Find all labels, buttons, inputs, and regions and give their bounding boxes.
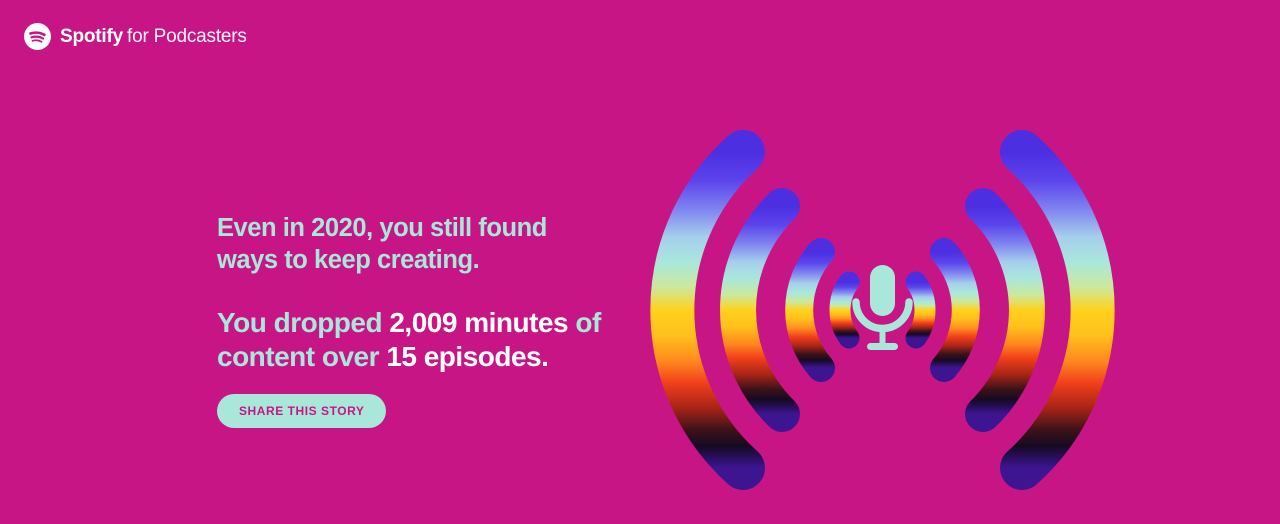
stat-prefix: You dropped bbox=[217, 307, 389, 338]
headline-line-2: ways to keep creating. bbox=[217, 246, 479, 274]
soundwave-arc-right-4 bbox=[916, 282, 925, 338]
story-copy: Even in 2020, you still found ways to ke… bbox=[217, 213, 637, 373]
soundwave-arc-right-2 bbox=[983, 206, 1027, 414]
brand-wordmark: Spotify for Podcasters bbox=[60, 27, 247, 46]
share-this-story-button[interactable]: SHARE THIS STORY bbox=[217, 394, 386, 428]
brand-name-for-podcasters: for Podcasters bbox=[127, 27, 247, 46]
stat-sentence: You dropped 2,009 minutes of content ove… bbox=[217, 306, 637, 373]
brand-name-spotify: Spotify bbox=[60, 27, 123, 46]
microphone-icon bbox=[856, 265, 909, 350]
soundwave-arc-left-4 bbox=[840, 282, 849, 338]
brand-lockup[interactable]: Spotify for Podcasters bbox=[24, 21, 247, 51]
spotify-icon bbox=[24, 23, 51, 50]
headline-line-1: Even in 2020, you still found bbox=[217, 214, 547, 242]
stat-minutes-value: 2,009 minutes bbox=[389, 307, 568, 338]
podcast-soundwave-illustration bbox=[630, 110, 1135, 510]
headline: Even in 2020, you still found ways to ke… bbox=[217, 213, 637, 276]
stat-episodes-value: 15 episodes. bbox=[386, 341, 548, 372]
soundwave-arc-right-3 bbox=[944, 252, 966, 368]
soundwave-arc-left-2 bbox=[738, 206, 782, 414]
soundwave-arc-left-3 bbox=[799, 252, 821, 368]
